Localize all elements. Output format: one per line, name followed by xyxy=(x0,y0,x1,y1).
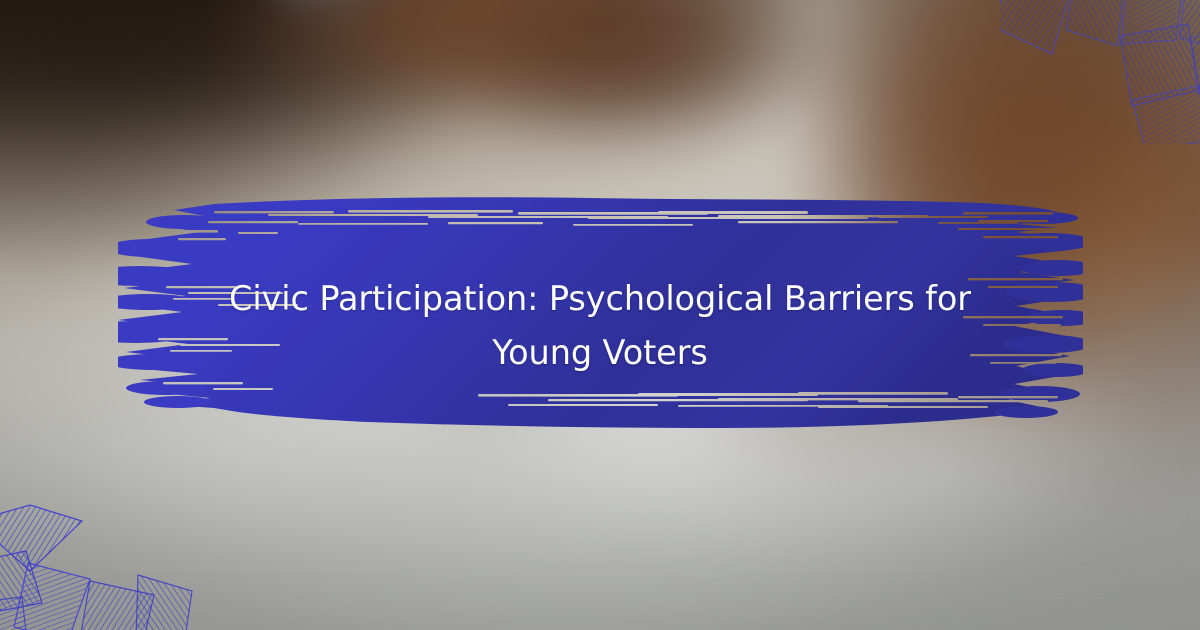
social-share-card: Civic Participation: Psychological Barri… xyxy=(0,0,1200,630)
paint-brush-stroke-banner xyxy=(118,186,1083,448)
